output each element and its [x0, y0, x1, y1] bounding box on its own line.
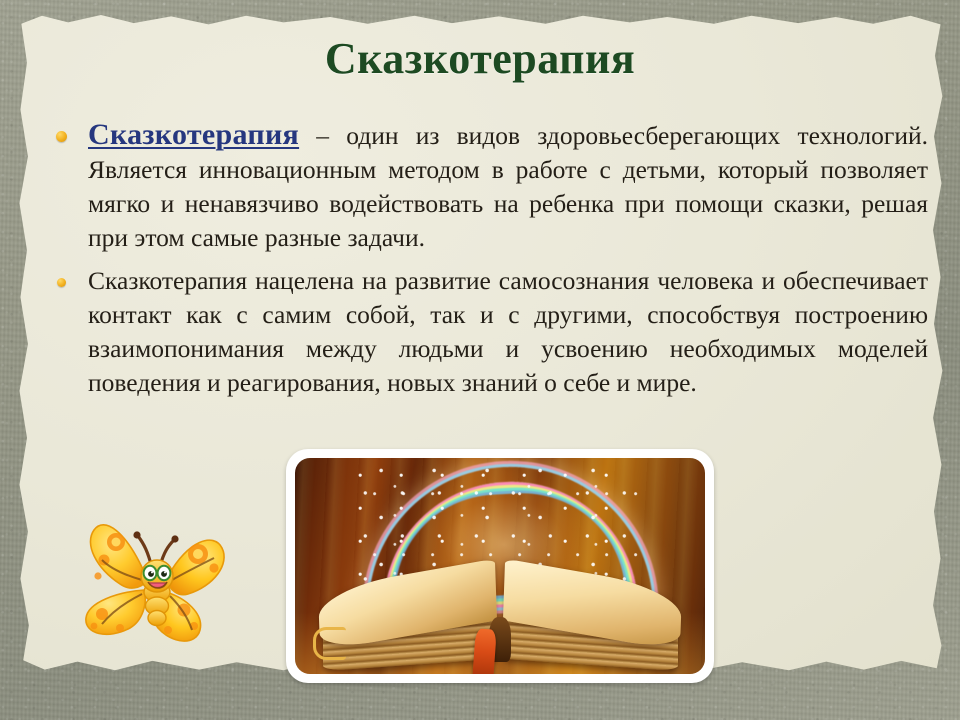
bullet-lead-word: Сказкотерапия	[88, 118, 299, 151]
bullet-text: Сказкотерапия – один из видов здоровьесб…	[88, 118, 928, 255]
bullet-dot-icon	[56, 131, 67, 142]
butterfly-illustration	[68, 506, 250, 666]
list-item: Сказкотерапия нацелена на развитие самос…	[48, 264, 928, 400]
book-bookmark-ribbon	[472, 628, 496, 674]
book-clasp	[313, 627, 346, 660]
page-title: Сказкотерапия	[0, 33, 960, 84]
butterfly-icon	[68, 506, 250, 666]
slide-content: Сказкотерапия Сказкотерапия – один из ви…	[0, 0, 960, 720]
slide-root: Сказкотерапия Сказкотерапия – один из ви…	[0, 0, 960, 720]
magic-book-photo	[286, 449, 714, 683]
bullet-text: Сказкотерапия нацелена на развитие самос…	[88, 264, 928, 400]
open-book	[311, 534, 688, 668]
magic-book-photo-inner	[295, 458, 705, 674]
bullet-list: Сказкотерапия – один из видов здоровьесб…	[48, 118, 928, 409]
bullet-dot-icon	[57, 278, 66, 287]
list-item: Сказкотерапия – один из видов здоровьесб…	[48, 118, 928, 255]
